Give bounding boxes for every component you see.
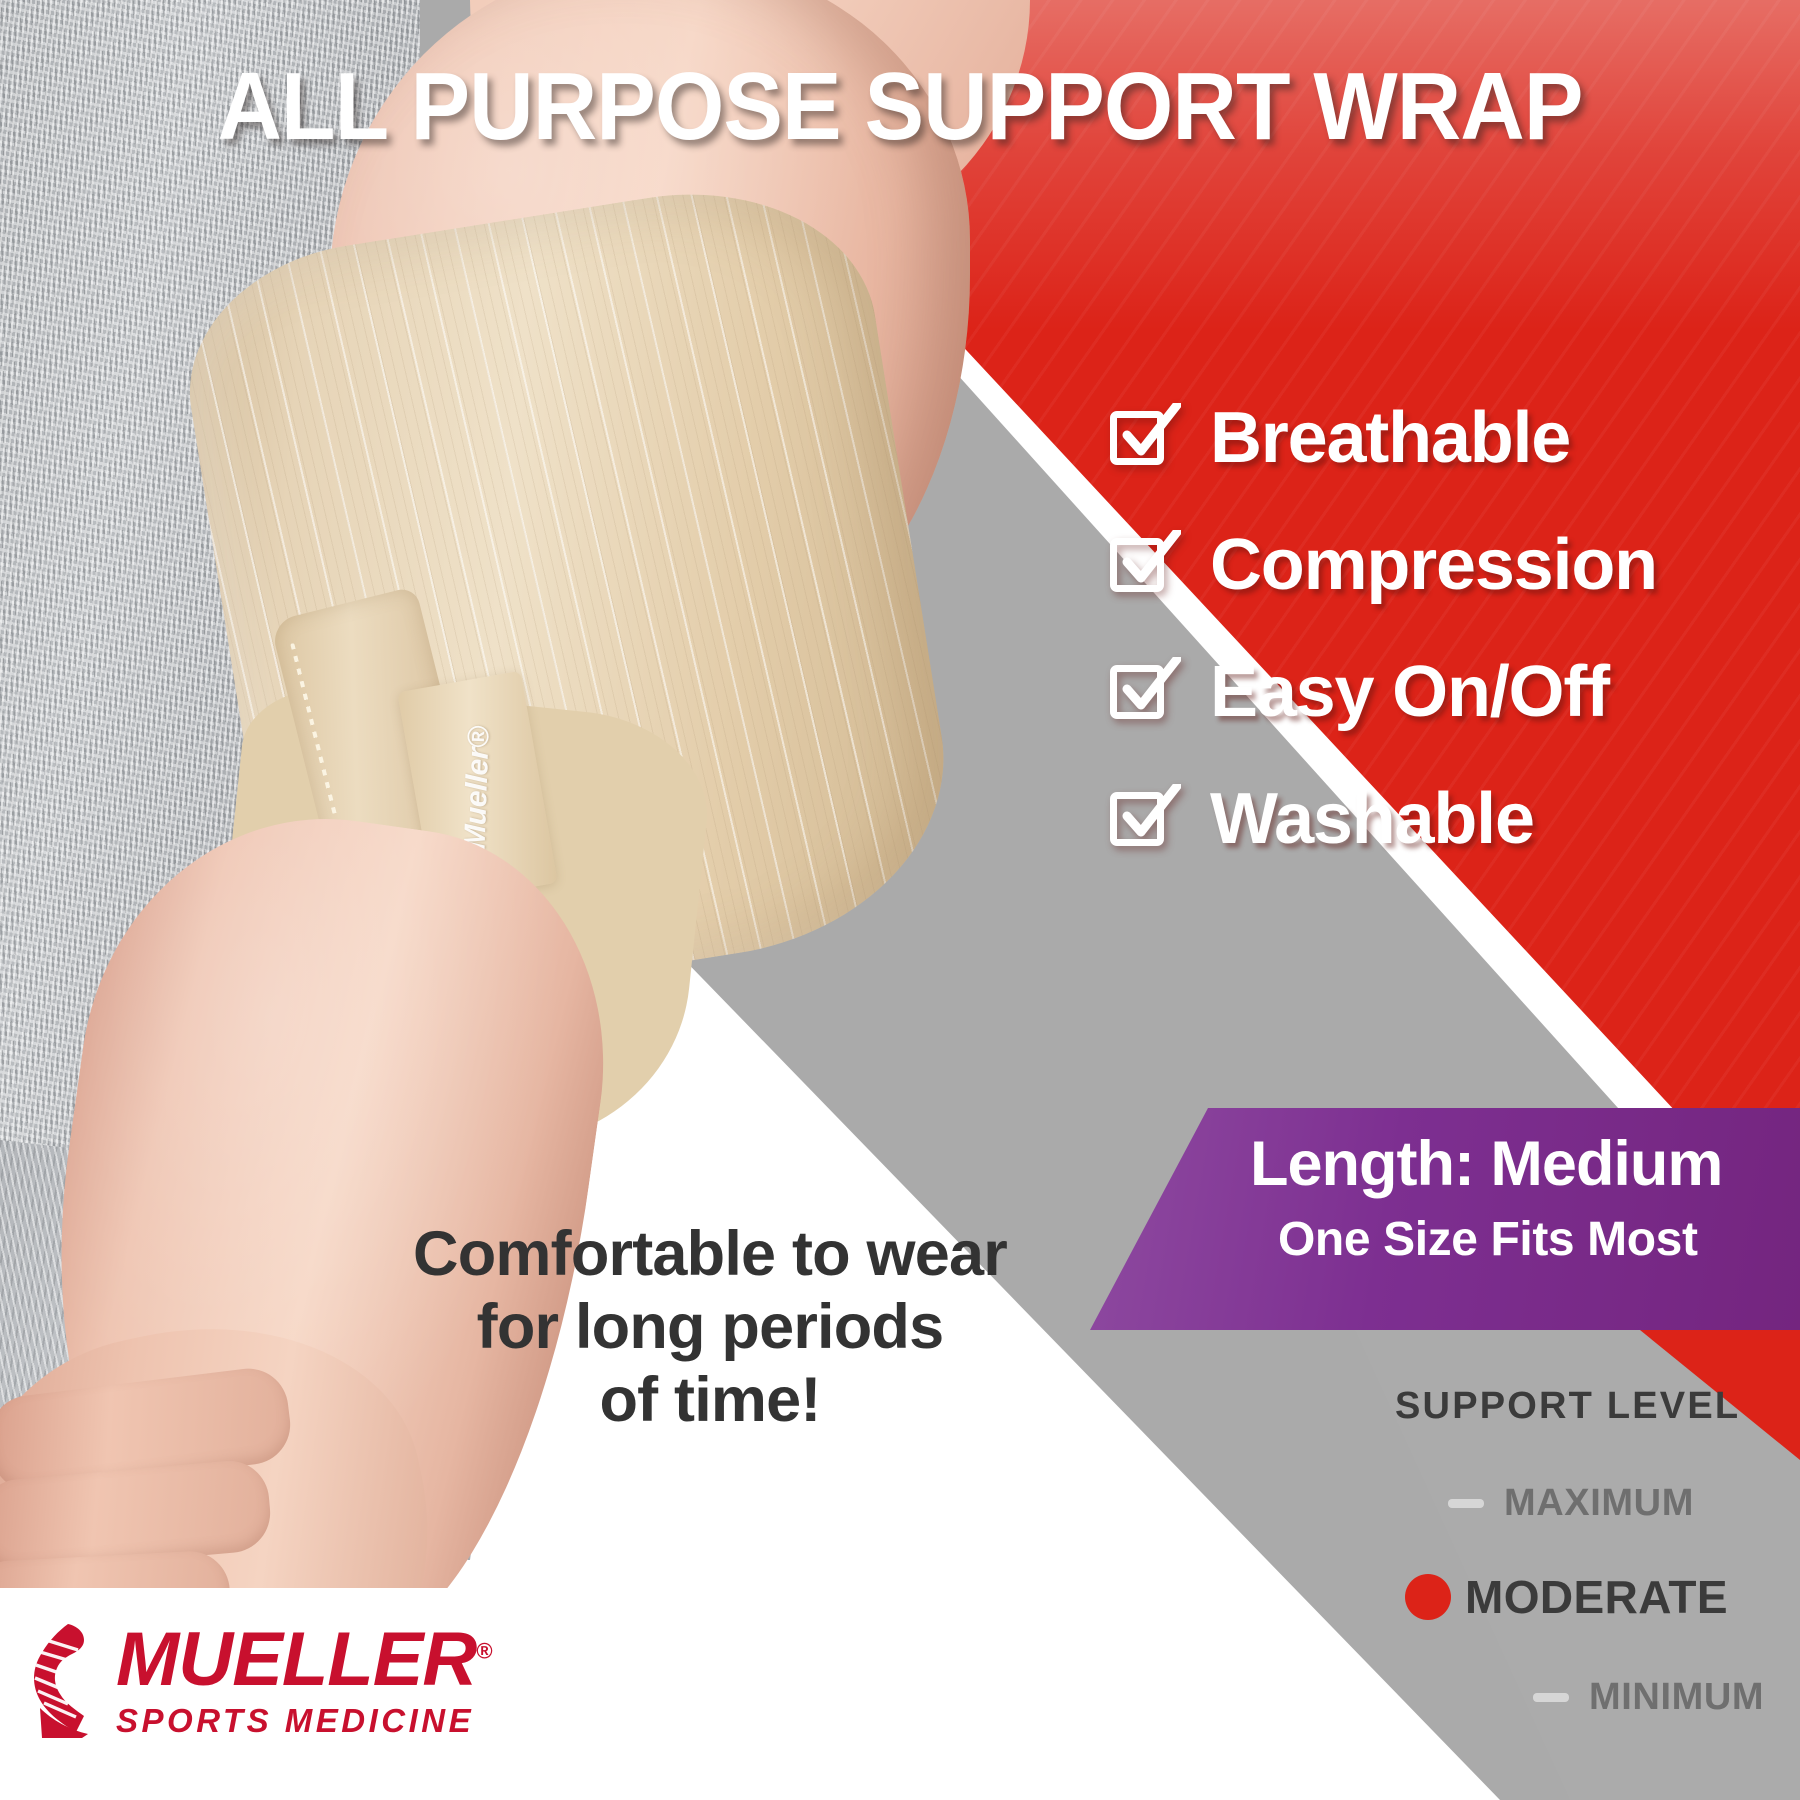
checkbox-checked-icon: [1110, 786, 1176, 852]
brand-tagline: SPORTS MEDICINE: [116, 1704, 492, 1737]
level-selected-dot-icon: [1405, 1574, 1451, 1620]
product-photo: Mueller®: [0, 0, 1100, 1800]
product-poster: Mueller® ALL PURPOSE SUPPORT WRAP Breath…: [0, 0, 1800, 1800]
support-level-label: MINIMUM: [1589, 1676, 1764, 1719]
support-level-label: MODERATE: [1465, 1570, 1728, 1624]
checkbox-checked-icon: [1110, 532, 1176, 598]
length-subtitle: One Size Fits Most: [1278, 1212, 1790, 1267]
feature-item: Easy On/Off: [1110, 632, 1790, 752]
support-level-heading: SUPPORT LEVEL: [1395, 1385, 1740, 1428]
support-level-label: MAXIMUM: [1504, 1482, 1694, 1525]
support-level-moderate: MODERATE: [1405, 1570, 1728, 1624]
brand-logo: MUELLER® SPORTS MEDICINE: [22, 1620, 492, 1738]
comfort-line-1: Comfortable to wear: [400, 1218, 1020, 1291]
checkbox-checked-icon: [1110, 659, 1176, 725]
feature-item: Breathable: [1110, 378, 1790, 498]
length-title: Length: Medium: [1250, 1128, 1790, 1200]
feature-list: Breathable Compression Easy On/Off: [1110, 378, 1790, 886]
page-title: ALL PURPOSE SUPPORT WRAP: [63, 52, 1737, 162]
level-dash-icon: [1533, 1693, 1569, 1702]
support-level-maximum: MAXIMUM: [1448, 1482, 1694, 1525]
comfort-line-2: for long periods: [400, 1291, 1020, 1364]
feature-item: Washable: [1110, 759, 1790, 879]
feature-label: Breathable: [1210, 397, 1570, 479]
wrapped-foot-icon: [22, 1620, 104, 1738]
comfort-line-3: of time!: [400, 1364, 1020, 1437]
feature-label: Washable: [1210, 778, 1534, 860]
support-level-minimum: MINIMUM: [1533, 1676, 1764, 1719]
registered-mark: ®: [476, 1638, 491, 1663]
feature-label: Compression: [1210, 524, 1657, 606]
wrap-brand-mark: Mueller®: [458, 725, 496, 849]
comfort-callout: Comfortable to wear for long periods of …: [400, 1218, 1020, 1437]
brand-name: MUELLER®: [116, 1622, 492, 1698]
feature-item: Compression: [1110, 505, 1790, 625]
feature-label: Easy On/Off: [1210, 651, 1609, 733]
level-dash-icon: [1448, 1499, 1484, 1508]
checkbox-checked-icon: [1110, 405, 1176, 471]
